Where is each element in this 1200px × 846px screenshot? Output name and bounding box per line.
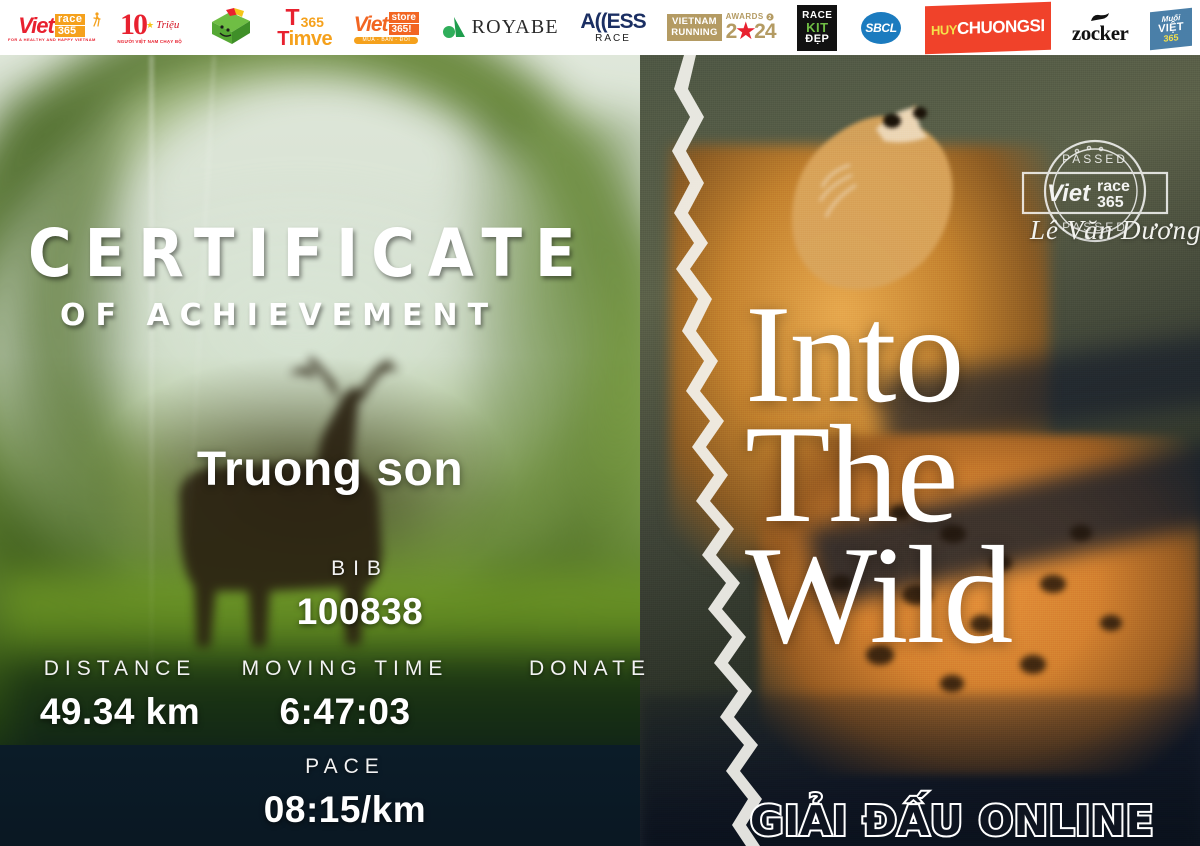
zocker-wordmark: zocker (1072, 23, 1128, 44)
huychuongsi-wordmark: HUYCHUONGSI (931, 16, 1045, 40)
stat-pace-label: PACE (215, 755, 475, 779)
vietrace-wordmark: Viet (18, 15, 54, 37)
event-title-line-3: Wild (745, 536, 1011, 656)
sponsor-logo-access-race[interactable]: A((ESS RACE (580, 8, 645, 48)
mascot-icon (204, 8, 256, 48)
timve-365: 365 (301, 15, 324, 29)
stamp-brand-race: race (1097, 178, 1130, 195)
sponsor-logo-bar: Vietrace 365 Viet race 365 FOR A HEALTHY… (0, 0, 1200, 55)
access-wordmark: A((ESS (580, 11, 645, 32)
stat-distance-label: DISTANCE (0, 657, 250, 681)
runner-icon (93, 12, 101, 28)
event-tagline: GIẢI ĐẤU ONLINE (750, 797, 1154, 845)
vietstore-365-label: 365! (389, 24, 419, 35)
timve-t: T (286, 6, 300, 29)
trieu-word: Triệu (156, 19, 179, 31)
stat-moving-time-value: 6:47:03 (215, 691, 475, 733)
left-tree (0, 95, 120, 655)
vietrace-race-label: race (55, 14, 86, 25)
rkd-kit: KIT (806, 21, 828, 34)
page-title: CERTIFICATE (28, 221, 589, 287)
signature: Lê Văn Dương (1030, 215, 1200, 246)
sponsor-logo-vietnam-running-awards[interactable]: VIETNAM RUNNING AWARDS 2 2★24 (667, 8, 775, 48)
huy-text: HUY (931, 22, 957, 38)
stat-bib-label: BIB (235, 557, 485, 581)
sponsor-logo-zocker[interactable]: zocker (1072, 8, 1128, 48)
stat-moving-time-label: MOVING TIME (215, 657, 475, 681)
vietrace-tagline: FOR A HEALTHY AND HAPPY VIETNAM (8, 38, 96, 42)
stamp-brand-viet: Viet (1047, 180, 1091, 207)
access-race-label: RACE (595, 34, 631, 44)
stat-distance: DISTANCE 49.34 km (0, 657, 250, 733)
vnr-line2: RUNNING (671, 28, 717, 39)
timve-wordmark: Timve (277, 29, 332, 49)
muoi-365-text: 365 (1163, 33, 1178, 44)
vietstore-store-label: store (389, 12, 419, 23)
stat-donate-label: DONATE (460, 657, 720, 681)
sponsor-logo-vietrace365[interactable]: Vietrace 365 Viet race 365 FOR A HEALTHY… (8, 8, 96, 48)
vnr-line1: VIETNAM (671, 17, 717, 28)
stat-moving-time: MOVING TIME 6:47:03 (215, 657, 475, 733)
stamp-passed-top: PASSED (1062, 152, 1128, 166)
stat-pace: PACE 08:15/km (215, 755, 475, 831)
star-icon: ★ (146, 20, 154, 31)
stat-distance-value: 49.34 km (0, 691, 250, 733)
royabe-mark-icon (441, 15, 467, 41)
chuongsi-text: CHUONGSI (957, 16, 1045, 39)
stat-bib-value: 100838 (235, 591, 485, 633)
sbcl-wordmark: SBCL (865, 21, 896, 35)
sponsor-logo-royabe[interactable]: ROYABE (441, 8, 559, 48)
sponsor-logo-race-kit-dep[interactable]: RACE KIT ĐẸP (797, 5, 837, 51)
sponsor-logo-huy-chuong-si[interactable]: HUYCHUONGSI (925, 1, 1051, 53)
stat-donate: DONATE (460, 657, 720, 691)
vietstore-pill: MUA - BÁN - ĐỔI (354, 37, 418, 44)
stat-bib: BIB 100838 (235, 557, 485, 633)
athlete-name: Truong son (0, 442, 660, 497)
ten-million-sub: NGƯỜI VIỆT NAM CHẠY BỘ (117, 39, 182, 44)
page-subtitle: OF ACHIEVEMENT (60, 298, 498, 333)
rkd-dep: ĐẸP (805, 34, 829, 45)
ten-million-number: 10 (120, 11, 146, 39)
sponsor-logo-banh-chung-mascot[interactable] (204, 8, 256, 48)
sponsor-logo-muoi-viet-365[interactable]: Muối VIỆT 365 (1150, 8, 1192, 48)
vnr-year: 2★24 (726, 21, 776, 42)
sunbeam-1 (150, 55, 153, 695)
certificate-page: Vietrace 365 Viet race 365 FOR A HEALTHY… (0, 0, 1200, 846)
sponsor-logo-365-timve[interactable]: T 365 Timve (277, 8, 332, 48)
event-title: Into The Wild (745, 295, 1011, 656)
stat-pace-value: 08:15/km (215, 789, 475, 831)
stamp-brand-365: 365 (1097, 194, 1124, 211)
vietrace-365-label: 365 (55, 26, 86, 37)
rkd-race: RACE (802, 11, 832, 21)
vietstore-viet: Viet (354, 14, 388, 35)
sponsor-logo-10-trieu[interactable]: 10 ★ Triệu NGƯỜI VIỆT NAM CHẠY BỘ (117, 8, 182, 48)
certificate-canvas: CERTIFICATE OF ACHIEVEMENT Truong son BI… (0, 55, 1200, 846)
sponsor-logo-sbcl[interactable]: SBCL (859, 8, 903, 48)
sponsor-logo-vietstore365[interactable]: Viet store 365! MUA - BÁN - ĐỔI (354, 8, 419, 48)
royabe-wordmark: ROYABE (472, 16, 559, 39)
